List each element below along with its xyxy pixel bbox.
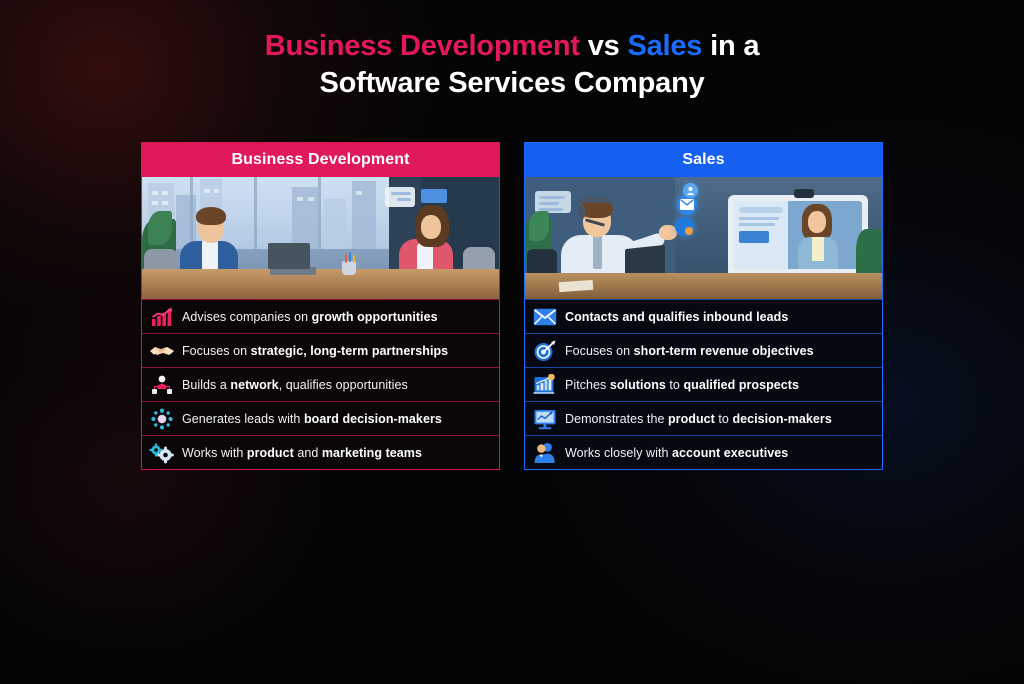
list-item-network-hierarchy[interactable]: Builds a network, qualifies opportunitie… (142, 367, 499, 401)
monitor-chart-icon (525, 402, 565, 436)
title-vs: vs (580, 30, 628, 62)
illustration-sales (525, 177, 882, 299)
bar-chart-growth-icon (142, 300, 182, 334)
title-sales: Sales (627, 30, 702, 62)
list-item-label: Generates leads with board decision-make… (182, 411, 442, 427)
panel-business-development: Business Development (141, 142, 500, 470)
handshake-icon (142, 334, 182, 368)
panel-sales: Sales (524, 142, 883, 470)
list-item-person-user[interactable]: Works closely with account executives (525, 435, 882, 469)
list-item-target-dart[interactable]: Focuses on short-term revenue objectives (525, 333, 882, 367)
page-title: Business Development vs Sales in a Softw… (0, 28, 1024, 102)
panel-header-sales: Sales (525, 143, 882, 177)
node-cluster-icon (142, 402, 182, 436)
envelope-icon (525, 300, 565, 334)
list-item-presentation-chart[interactable]: Pitches solutions to qualified prospects (525, 367, 882, 401)
list-item-label: Focuses on strategic, long-term partners… (182, 343, 448, 359)
list-item-label: Contacts and qualifies inbound leads (565, 309, 788, 325)
list-item-label: Builds a network, qualifies opportunitie… (182, 377, 408, 393)
list-item-label: Pitches solutions to qualified prospects (565, 377, 799, 393)
list-item-monitor-chart[interactable]: Demonstrates the product to decision-mak… (525, 401, 882, 435)
target-dart-icon (525, 334, 565, 368)
list-item-label: Advises companies on growth opportunitie… (182, 309, 438, 325)
panel-header-business-development: Business Development (142, 143, 499, 177)
list-item-label: Demonstrates the product to decision-mak… (565, 411, 832, 427)
title-line-two: Software Services Company (0, 65, 1024, 102)
list-item-envelope[interactable]: Contacts and qualifies inbound leads (525, 299, 882, 333)
list-item-label: Focuses on short-term revenue objectives (565, 343, 814, 359)
list-item-label: Works closely with account executives (565, 445, 788, 461)
list-item-bar-chart-growth[interactable]: Advises companies on growth opportunitie… (142, 299, 499, 333)
gears-icon (142, 436, 182, 470)
title-business-development: Business Development (265, 30, 580, 62)
presentation-chart-icon (525, 368, 565, 402)
list-item-handshake[interactable]: Focuses on strategic, long-term partners… (142, 333, 499, 367)
title-suffix: in a (702, 30, 759, 62)
person-user-icon (525, 436, 565, 470)
list-item-label: Works with product and marketing teams (182, 445, 422, 461)
list-item-gears[interactable]: Works with product and marketing teams (142, 435, 499, 469)
comparison-panels: Business Development (0, 142, 1024, 492)
list-item-node-cluster[interactable]: Generates leads with board decision-make… (142, 401, 499, 435)
network-hierarchy-icon (142, 368, 182, 402)
illustration-business-development (142, 177, 499, 299)
